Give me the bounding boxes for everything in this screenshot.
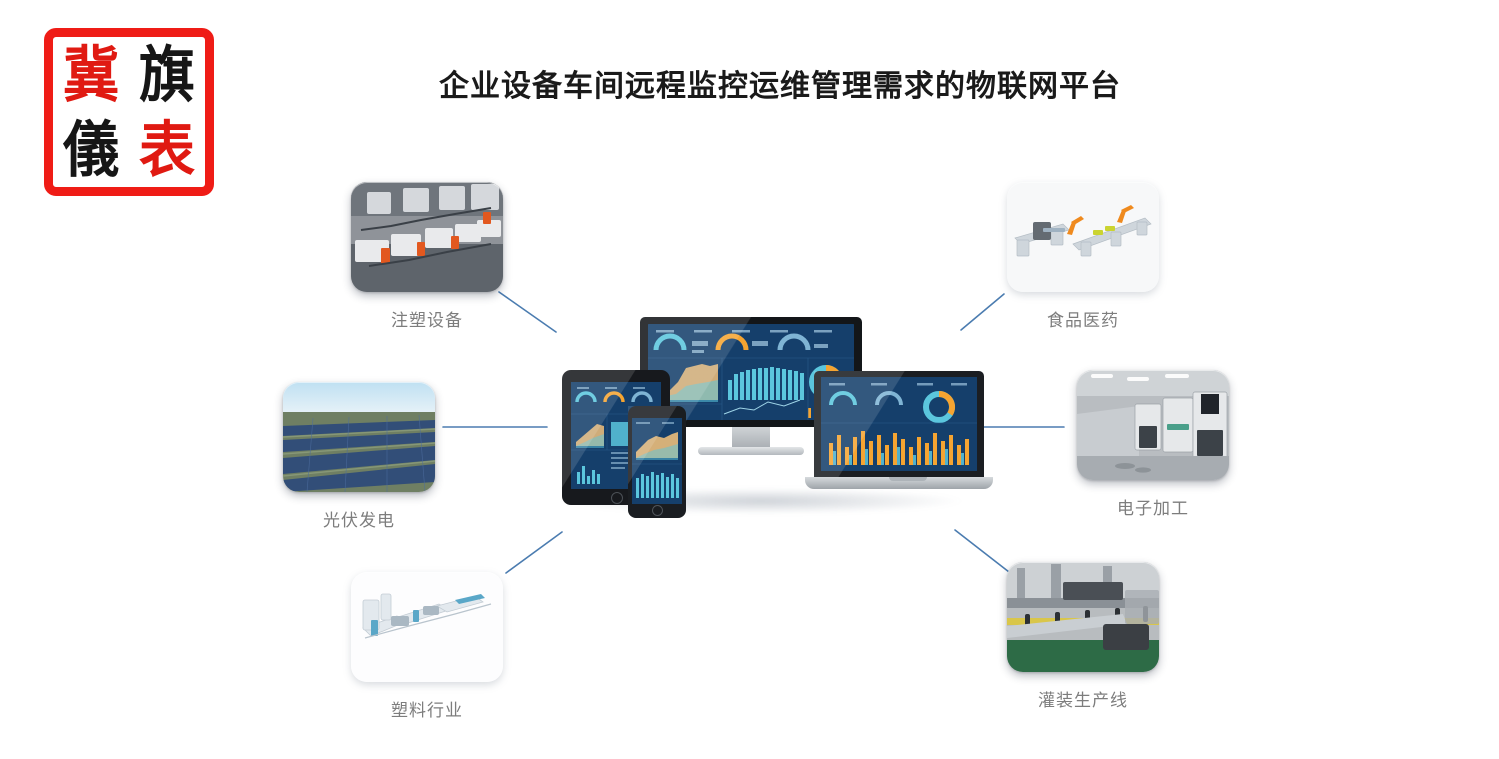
node-filling-line-label: 灌装生产线	[988, 686, 1178, 711]
node-filling-line-thumbnail	[1007, 562, 1159, 672]
phone-bezel	[628, 406, 686, 518]
laptop-bezel	[814, 371, 984, 479]
device-laptop	[814, 371, 984, 499]
phone-screen	[632, 418, 682, 504]
node-food-pharma[interactable]: 食品医药	[988, 182, 1178, 331]
node-plastics-label: 塑料行业	[332, 696, 522, 721]
node-injection-molding-label: 注塑设备	[332, 306, 522, 331]
monitor-stand-foot	[698, 447, 804, 455]
node-injection-molding-thumbnail	[351, 182, 503, 292]
node-injection-molding[interactable]: 注塑设备	[332, 182, 522, 331]
laptop-screen	[821, 377, 977, 471]
node-photovoltaic-label: 光伏发电	[264, 506, 454, 531]
node-electronics[interactable]: 电子加工	[1058, 370, 1248, 519]
laptop-dashboard	[821, 377, 977, 471]
logo-char-3: 儀	[63, 119, 119, 179]
logo-char-1: 冀	[63, 44, 119, 104]
tablet-home-button[interactable]	[611, 492, 623, 504]
node-electronics-label: 电子加工	[1058, 494, 1248, 519]
phone-dashboard	[632, 418, 682, 504]
node-photovoltaic[interactable]: 光伏发电	[264, 382, 454, 531]
node-food-pharma-thumbnail	[1007, 182, 1159, 292]
node-electronics-thumbnail	[1077, 370, 1229, 480]
node-filling-line[interactable]: 灌装生产线	[988, 562, 1178, 711]
page-title: 企业设备车间远程监控运维管理需求的物联网平台	[330, 68, 1230, 106]
node-plastics[interactable]: 塑料行业	[332, 572, 522, 721]
company-logo: 冀 旗 儀 表	[44, 28, 214, 196]
node-photovoltaic-thumbnail	[283, 382, 435, 492]
laptop-trackpad-notch	[889, 477, 927, 481]
monitor-stand-neck	[732, 427, 770, 449]
food-pharma-illustration	[1007, 182, 1159, 292]
node-food-pharma-label: 食品医药	[988, 306, 1178, 331]
logo-char-2: 旗	[139, 44, 195, 104]
connector-plastics	[506, 532, 562, 573]
multi-device-dashboard-cluster[interactable]	[548, 305, 968, 520]
node-plastics-thumbnail	[351, 572, 503, 682]
photovoltaic-illustration	[283, 382, 435, 492]
injection-molding-illustration	[351, 182, 503, 292]
phone-home-button[interactable]	[652, 505, 663, 516]
logo-char-4: 表	[139, 119, 195, 179]
electronics-illustration	[1077, 370, 1229, 480]
plastics-illustration	[351, 572, 503, 682]
filling-line-illustration	[1007, 562, 1159, 672]
device-phone	[628, 406, 686, 518]
slide-canvas: 冀 旗 儀 表 企业设备车间远程监控运维管理需求的物联网平台	[0, 0, 1499, 759]
